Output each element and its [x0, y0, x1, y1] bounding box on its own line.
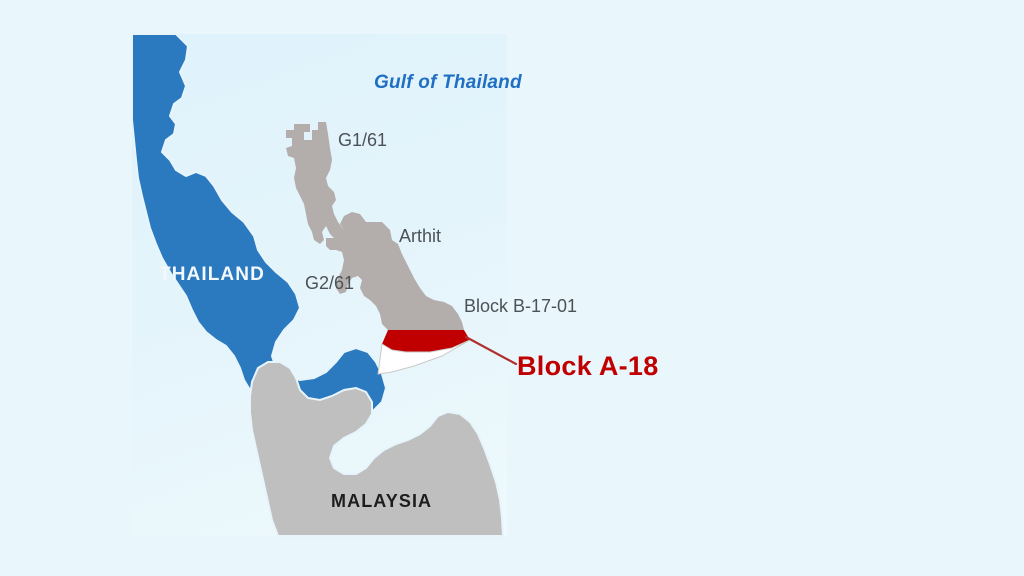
block-arthit-shape: [326, 212, 464, 330]
map-figure: Gulf of Thailand G1/61 Arthit G2/61 Bloc…: [0, 0, 1024, 576]
map-graphic: [0, 0, 1024, 576]
block-a-18-shape: [382, 330, 470, 352]
block-g1-61-shape: [286, 122, 348, 244]
callout-leader-line: [466, 337, 516, 364]
